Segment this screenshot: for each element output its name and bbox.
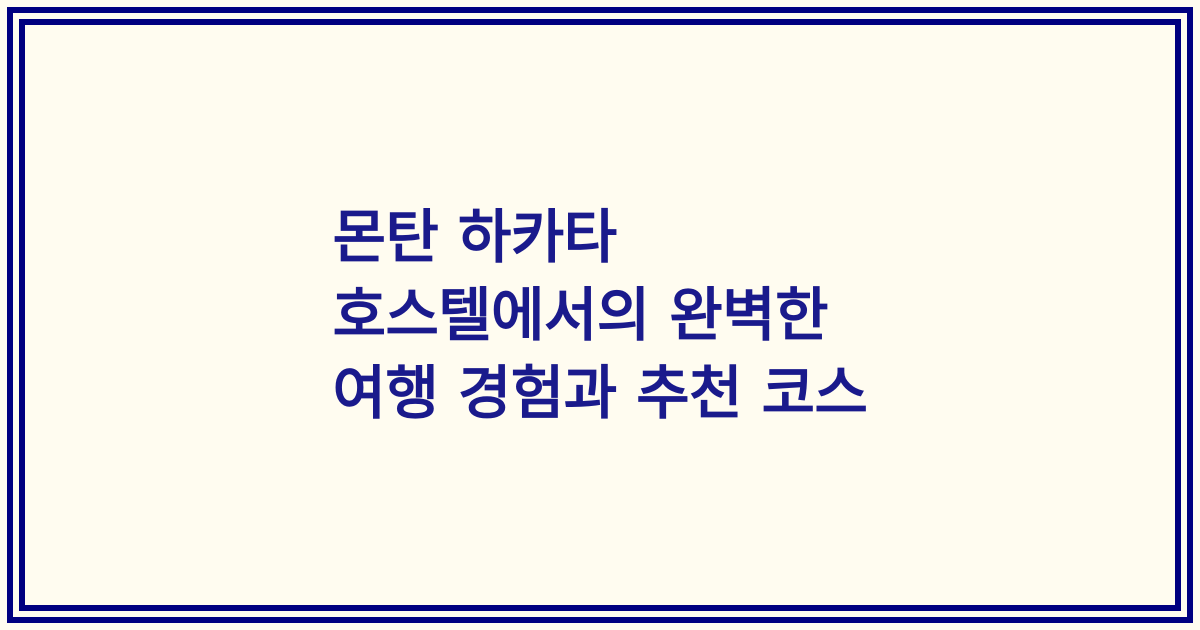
title-container: 몬탄 하카타 호스텔에서의 완벽한 여행 경험과 추천 코스 xyxy=(19,19,1181,611)
title-line-2: 호스텔에서의 완벽한 xyxy=(333,276,868,354)
title-line-1: 몬탄 하카타 xyxy=(333,198,868,276)
og-image-card: 몬탄 하카타 호스텔에서의 완벽한 여행 경험과 추천 코스 xyxy=(0,0,1200,630)
title-line-3: 여행 경험과 추천 코스 xyxy=(333,354,868,432)
page-title: 몬탄 하카타 호스텔에서의 완벽한 여행 경험과 추천 코스 xyxy=(313,198,888,432)
